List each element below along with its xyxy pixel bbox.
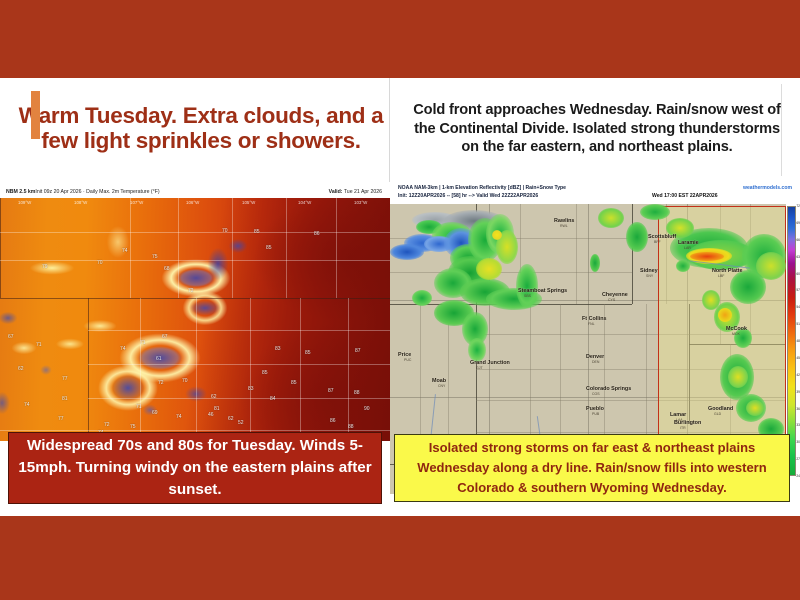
county-line <box>88 364 390 365</box>
temperature-value: 72 <box>158 380 164 386</box>
echo-blob-core <box>690 252 724 261</box>
nam-header-line1: NOAA NAM-3km | 1-km Elevation Reflectivi… <box>398 185 566 191</box>
temperature-raster[interactable]: ★ 79707475687270858685677174716167838587… <box>0 198 390 441</box>
nam-header-line2: Init: 12Z20APR2026 -- [58] hr --> Valid … <box>398 193 538 199</box>
temperature-value: 85 <box>266 245 272 251</box>
station-id-label: RWL <box>560 224 568 228</box>
temperature-value: 87 <box>328 388 334 394</box>
temperature-value: 85 <box>305 350 311 356</box>
county-line <box>88 398 390 399</box>
temperature-value: 62 <box>228 416 234 422</box>
nam-valid-time: Wed 17:00 EST 22APR2026 <box>652 193 718 199</box>
station-id-label: DEN <box>592 360 599 364</box>
temperature-value: 77 <box>62 376 68 382</box>
temperature-value: 72 <box>104 422 110 428</box>
station-id-label: LAR <box>684 246 691 250</box>
headline-left-text: Warm Tuesday. Extra clouds, and a few li… <box>0 103 390 157</box>
temperature-value: 85 <box>254 229 260 235</box>
headline-left-block: Warm Tuesday. Extra clouds, and a few li… <box>0 78 390 182</box>
temperature-value: 85 <box>291 380 297 386</box>
dbz-tick-label: 60 <box>796 272 800 276</box>
station-id-label: GJT <box>476 366 483 370</box>
county-line <box>336 198 337 298</box>
temperature-value: 72 <box>188 288 194 294</box>
station-id-label: FNL <box>588 322 595 326</box>
nam-map-header: NOAA NAM-3km | 1-km Elevation Reflectivi… <box>390 182 800 204</box>
temperature-value: 86 <box>330 418 336 424</box>
station-id-label: PUC <box>404 358 411 362</box>
temperature-value: 86 <box>314 231 320 237</box>
nbm-header-left: NBM 2.5 kmInit 09z 20 Apr 2026 · Daily M… <box>6 189 160 195</box>
temperature-value: 79 <box>42 264 48 270</box>
temperature-value: 87 <box>355 348 361 354</box>
temperature-value: 75 <box>130 424 136 430</box>
station-id-label: LBF <box>718 274 724 278</box>
station-id-label: COS <box>592 392 600 396</box>
slide-root: Warm Tuesday. Extra clouds, and a few li… <box>0 0 800 600</box>
temperature-value: 70 <box>222 228 228 234</box>
county-line <box>196 298 197 441</box>
echo-blob <box>626 222 648 252</box>
dbz-tick-label: 39 <box>796 390 800 394</box>
temperature-value: 61 <box>156 356 162 362</box>
dbz-tick-label: 27 <box>796 457 800 461</box>
echo-blob <box>730 270 766 304</box>
station-id-label: LAA <box>676 418 683 422</box>
temperature-value: 71 <box>136 404 142 410</box>
temperature-value: 46 <box>208 412 214 418</box>
temperature-value: 75 <box>152 254 158 260</box>
echo-blob <box>702 290 720 310</box>
caption-right: Isolated strong storms on far east & nor… <box>394 434 790 502</box>
temperature-value: 74 <box>122 248 128 254</box>
echo-blob <box>640 204 670 220</box>
dbz-scale-labels: 7269666360575451484542393633302724 <box>796 204 800 478</box>
dbz-tick-label: 48 <box>796 339 800 343</box>
nbm-valid-label: Valid: <box>329 189 343 195</box>
state-border-wy-co <box>0 298 390 299</box>
temperature-value: 81 <box>62 396 68 402</box>
echo-blob <box>676 260 690 272</box>
temperature-value: 71 <box>140 340 146 346</box>
temperature-value: 70 <box>97 260 103 266</box>
city-label: North Platte <box>712 268 743 274</box>
dbz-tick-label: 42 <box>796 373 800 377</box>
state-border-wy-ne <box>632 204 633 304</box>
headline-right-text: Cold front approaches Wednesday. Rain/sn… <box>390 101 800 159</box>
county-line <box>232 198 233 298</box>
temperature-value: 52 <box>238 420 244 426</box>
dbz-tick-label: 72 <box>796 204 800 208</box>
county-line <box>390 272 632 273</box>
temperature-value: 68 <box>164 266 170 272</box>
echo-blob <box>476 258 502 280</box>
longitude-tick-label: 106°W <box>186 200 199 205</box>
station-id-label: SNY <box>646 274 653 278</box>
dbz-tick-label: 36 <box>796 407 800 411</box>
county-line <box>286 198 287 298</box>
echo-blob <box>390 244 424 260</box>
temperature-value: 62 <box>18 366 24 372</box>
longitude-tick-label: 107°W <box>130 200 143 205</box>
temperature-value: 74 <box>24 402 30 408</box>
county-line <box>576 204 577 304</box>
headline-row: Warm Tuesday. Extra clouds, and a few li… <box>0 78 800 182</box>
longitude-tick-label: 109°W <box>18 200 31 205</box>
temperature-value: 81 <box>214 406 220 412</box>
county-line <box>300 298 301 441</box>
nbm-init-text: Init 09z 20 Apr 2026 · Daily Max. 2m Tem… <box>35 189 159 195</box>
nbm-header-right: Valid: Tue 21 Apr 2026 <box>329 189 382 195</box>
dbz-tick-label: 66 <box>796 238 800 242</box>
station-id-label: SBS <box>524 294 531 298</box>
county-line <box>348 298 349 441</box>
echo-blob <box>746 400 764 416</box>
echo-blob <box>516 264 538 308</box>
dbz-tick-label: 24 <box>796 474 800 478</box>
caption-left: Widespread 70s and 80s for Tuesday. Wind… <box>8 432 382 504</box>
echo-blob <box>728 366 748 388</box>
accent-bar <box>31 91 40 139</box>
temperature-value: 74 <box>120 346 126 352</box>
echo-blob <box>590 254 600 272</box>
echo-blob <box>718 308 732 322</box>
echo-blob <box>492 230 502 240</box>
longitude-tick-label: 105°W <box>242 200 255 205</box>
county-line <box>0 260 390 261</box>
temperature-value: 71 <box>36 342 42 348</box>
temperature-value: 70 <box>182 378 188 384</box>
longitude-tick-label: 108°W <box>74 200 87 205</box>
dbz-tick-label: 63 <box>796 255 800 259</box>
temperature-value: 67 <box>162 334 168 340</box>
station-id-label: ITR <box>680 426 686 430</box>
weathermodels-link[interactable]: weathermodels.com <box>743 185 792 191</box>
county-line <box>130 198 131 298</box>
county-line <box>0 430 390 431</box>
nbm-model-label: NBM 2.5 km <box>6 189 35 195</box>
station-id-label: GLD <box>714 412 721 416</box>
nbm-map-header: NBM 2.5 kmInit 09z 20 Apr 2026 · Daily M… <box>0 182 390 198</box>
dbz-tick-label: 69 <box>796 221 800 225</box>
echo-blob <box>598 208 624 228</box>
dbz-tick-label: 30 <box>796 440 800 444</box>
temperature-value: 74 <box>176 414 182 420</box>
temperature-value: 84 <box>270 396 276 402</box>
city-label: Scottsbluff <box>648 234 676 240</box>
dbz-tick-label: 51 <box>796 322 800 326</box>
station-id-label: CYS <box>608 298 615 302</box>
station-id-label: PUB <box>592 412 599 416</box>
station-id-label: BFF <box>654 240 661 244</box>
caption-right-text: Isolated strong storms on far east & nor… <box>403 438 781 498</box>
echo-blob <box>412 290 432 306</box>
county-line <box>250 298 251 441</box>
temperature-value: 83 <box>248 386 254 392</box>
state-border-ut-co <box>88 298 89 441</box>
dbz-tick-label: 57 <box>796 288 800 292</box>
temperature-value: 67 <box>8 334 14 340</box>
station-id-label: MCK <box>732 332 740 336</box>
headline-divider-right <box>781 84 782 176</box>
longitude-tick-label: 104°W <box>298 200 311 205</box>
county-line <box>140 298 141 441</box>
temperature-value: 69 <box>152 410 158 416</box>
county-line <box>178 198 179 298</box>
temperature-value: 85 <box>262 370 268 376</box>
headline-right-block: Cold front approaches Wednesday. Rain/sn… <box>390 78 800 182</box>
temperature-value: 83 <box>275 346 281 352</box>
nbm-valid-text: Tue 21 Apr 2026 <box>342 189 382 195</box>
temperature-value: 88 <box>348 424 354 430</box>
dbz-tick-label: 54 <box>796 305 800 309</box>
temperature-value: 90 <box>364 406 370 412</box>
dbz-tick-label: 45 <box>796 356 800 360</box>
caption-left-text: Widespread 70s and 80s for Tuesday. Wind… <box>17 435 373 501</box>
dbz-tick-label: 33 <box>796 423 800 427</box>
temperature-value: 88 <box>354 390 360 396</box>
longitude-tick-label: 103°W <box>354 200 367 205</box>
temperature-value: 77 <box>58 416 64 422</box>
temperature-value: 62 <box>211 394 217 400</box>
state-border-west-edge <box>0 198 1 298</box>
station-id-label: CNY <box>438 384 445 388</box>
echo-blob <box>468 338 486 362</box>
county-line <box>0 232 390 233</box>
county-line <box>88 330 390 331</box>
